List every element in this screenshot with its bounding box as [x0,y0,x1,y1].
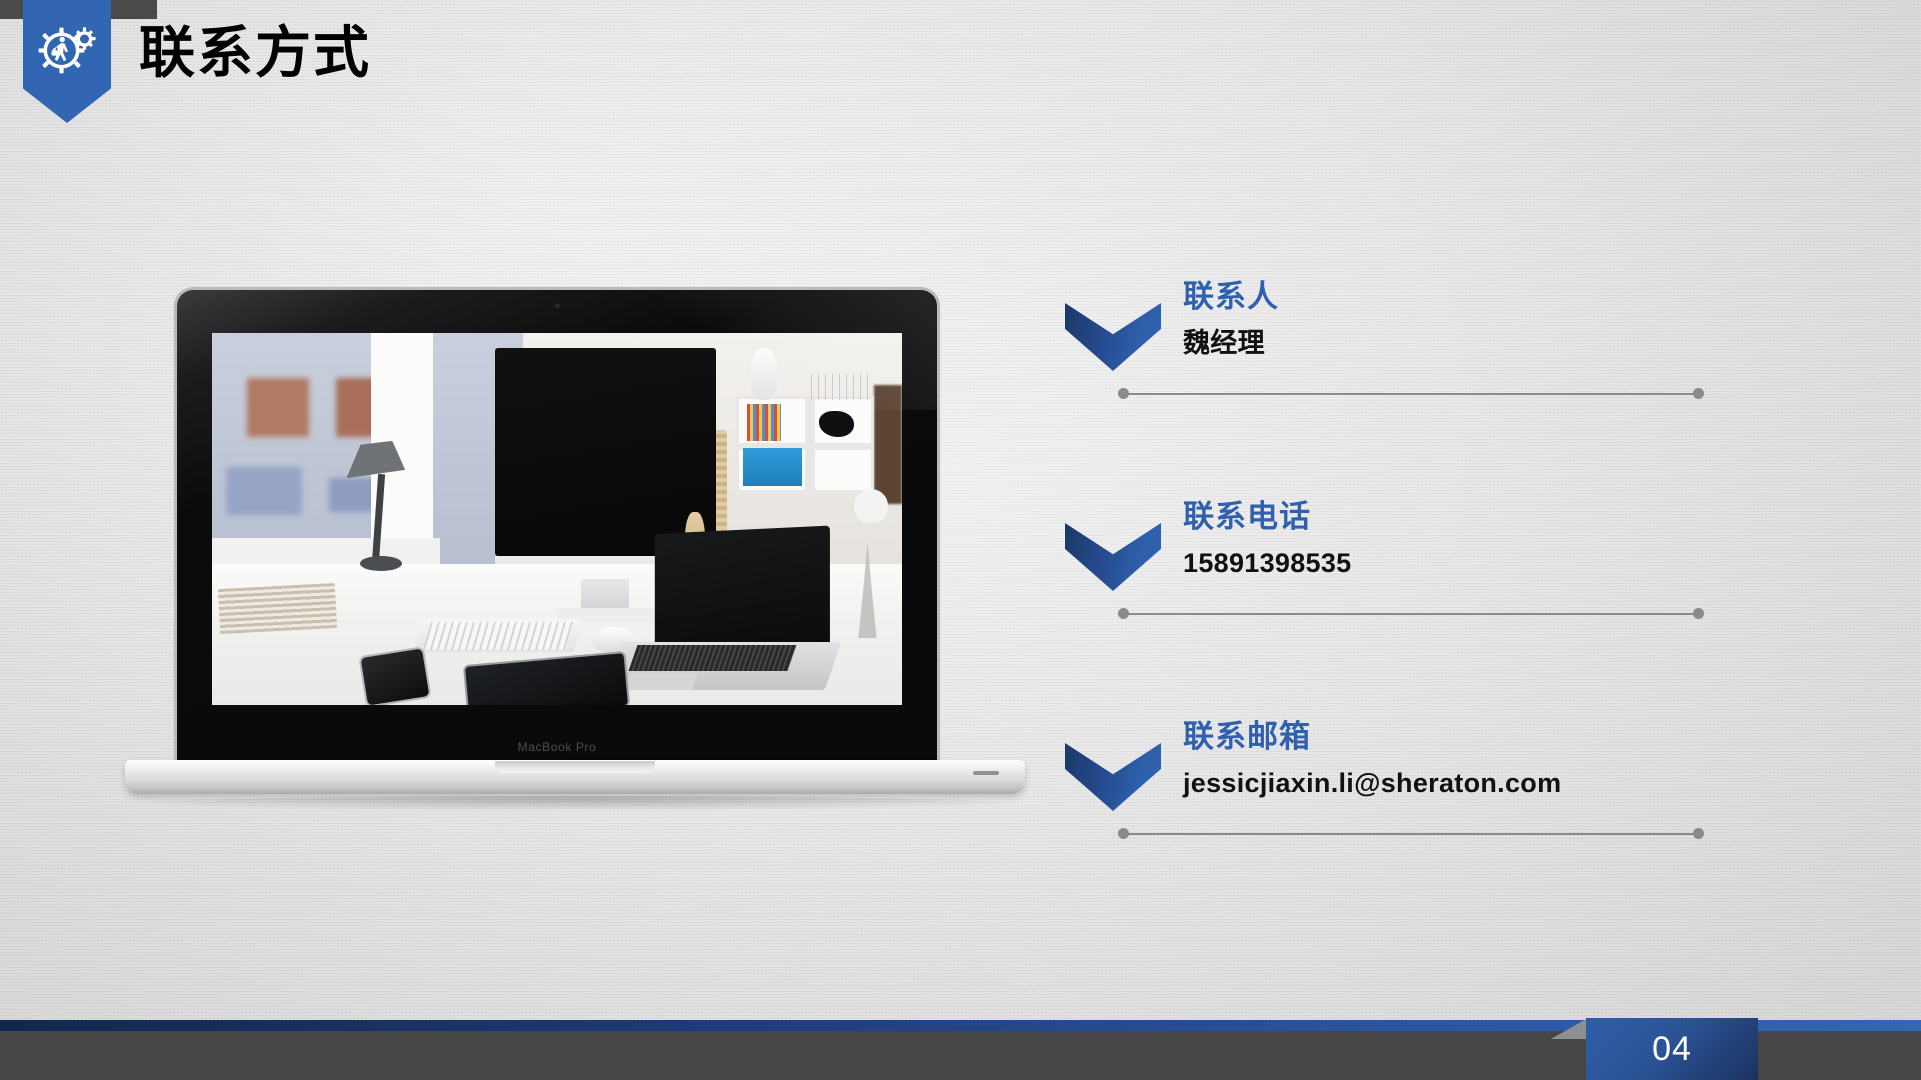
divider-dot-right [1693,608,1704,619]
photo-keyboard-keys [423,622,574,650]
chevron-down-icon [1065,303,1161,371]
photo-shelf-divider [805,396,815,493]
photo-window-building [226,467,302,515]
laptop-drop-shadow [147,796,1003,810]
photo-smartphone [360,648,429,705]
page-number: 04 [1652,1032,1692,1066]
laptop-base [125,760,1025,794]
divider-line [1123,393,1699,395]
contact-item-email: 联系邮箱 jessicjiaxin.li@sheraton.com [1065,718,1805,938]
photo-door [874,385,902,504]
divider-dot-right [1693,828,1704,839]
photo-desk-lamp-base [360,556,401,571]
photo-wine-glasses [805,374,874,400]
photo-imac-display [495,348,716,556]
webcam-icon [555,303,560,308]
contact-text-group: 联系电话 15891398535 [1183,498,1351,579]
laptop-port [973,771,999,775]
photo-blue-box [743,448,802,485]
laptop-latch-notch [495,761,655,773]
contact-divider [1118,608,1704,619]
laptop-mockup: MacBook Pro [125,290,1025,815]
contact-item-person: 联系人 魏经理 [1065,278,1805,498]
contact-value: jessicjiaxin.li@sheraton.com [1183,767,1561,799]
laptop-lid: MacBook Pro [177,290,937,768]
businessman-gear-icon [23,22,111,86]
contact-value: 魏经理 [1183,327,1279,359]
contact-divider [1118,388,1704,399]
contact-label: 联系邮箱 [1183,718,1561,757]
photo-vase [854,489,889,522]
photo-laptop-trackpad [623,673,698,690]
divider-line [1123,613,1699,615]
photo-window-building [247,378,309,438]
contact-item-phone: 联系电话 15891398535 [1065,498,1805,718]
divider-dot-right [1693,388,1704,399]
contact-text-group: 联系人 魏经理 [1183,278,1279,359]
contact-label: 联系人 [1183,278,1279,317]
contact-value: 15891398535 [1183,547,1351,579]
photo-imac-stand [581,579,629,609]
divider-line [1123,833,1699,835]
desk-workspace-photo [212,333,902,705]
photo-books [747,404,782,441]
photo-ornament [819,411,854,437]
slide-canvas: 联系方式 [0,0,1921,1080]
contact-label: 联系电话 [1183,498,1351,537]
photo-book-stack [218,583,337,634]
photo-vase [750,348,778,400]
laptop-screen [212,333,902,705]
photo-laptop-screen [654,526,830,658]
page-number-badge: 04 [1586,1018,1758,1080]
contact-list: 联系人 魏经理 联系电话 15891398535 [1065,278,1805,938]
page-title: 联系方式 [139,22,371,85]
chevron-down-icon [1065,743,1161,811]
photo-laptop-keys [628,645,796,671]
contact-divider [1118,828,1704,839]
contact-text-group: 联系邮箱 jessicjiaxin.li@sheraton.com [1183,718,1561,799]
chevron-down-icon [1065,523,1161,591]
photo-keyboard [414,619,582,652]
laptop-wordmark: MacBook Pro [177,740,937,754]
photo-window-sill [212,538,440,564]
